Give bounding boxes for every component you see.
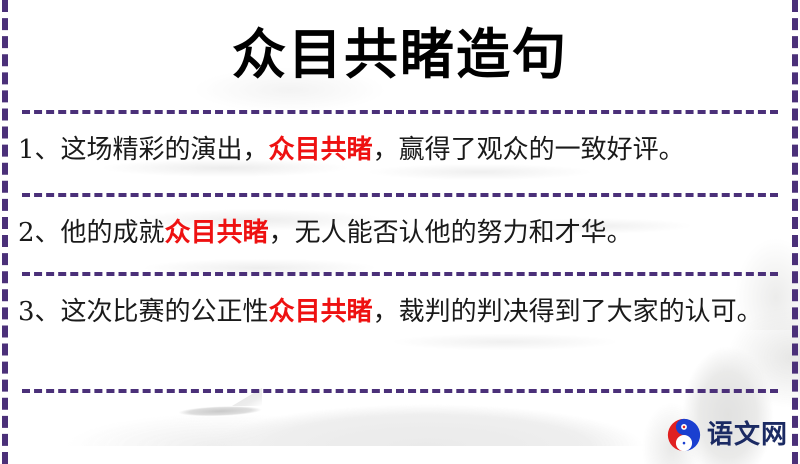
example-sentence-2: 2、他的成就众目共睹，无人能否认他的努力和才华。 — [18, 211, 784, 255]
slide-page: 众目共睹造句 1、这场精彩的演出，众目共睹，赢得了观众的一致好评。 2、他的成就… — [0, 0, 800, 464]
ink-wash-boat-watermark — [165, 396, 276, 422]
sentence-number: 1、 — [18, 135, 61, 165]
sentence-text-before: 他的成就 — [61, 218, 165, 248]
dashed-separator-4 — [22, 389, 778, 393]
sentence-text-before: 这场精彩的演出， — [61, 135, 269, 165]
sentence-text-after: ，无人能否认他的努力和才华。 — [269, 218, 633, 248]
dashed-separator-3 — [22, 272, 778, 276]
sentence-number: 3、 — [18, 297, 61, 327]
ink-wash-mist-watermark — [110, 255, 410, 281]
sentence-number: 2、 — [18, 218, 61, 248]
page-title: 众目共睹造句 — [0, 18, 800, 90]
dashed-separator-2 — [22, 193, 778, 197]
idiom-highlight: 众目共睹 — [269, 297, 373, 327]
site-logo[interactable]: 语文网 — [667, 418, 788, 452]
idiom-highlight: 众目共睹 — [269, 135, 373, 165]
sentence-text-after: ，裁判的判决得到了大家的认可。 — [373, 297, 763, 327]
idiom-highlight: 众目共睹 — [165, 218, 269, 248]
dashed-separator-1 — [22, 110, 778, 114]
yinyang-logo-icon — [667, 418, 701, 452]
sentence-text-before: 这次比赛的公正性 — [61, 297, 269, 327]
ink-wash-mountain-watermark — [30, 326, 670, 446]
sentence-text-after: ，赢得了观众的一致好评。 — [373, 135, 685, 165]
site-logo-text: 语文网 — [707, 422, 788, 448]
example-sentence-1: 1、这场精彩的演出，众目共睹，赢得了观众的一致好评。 — [18, 128, 784, 172]
example-sentence-3: 3、这次比赛的公正性众目共睹，裁判的判决得到了大家的认可。 — [18, 290, 784, 334]
